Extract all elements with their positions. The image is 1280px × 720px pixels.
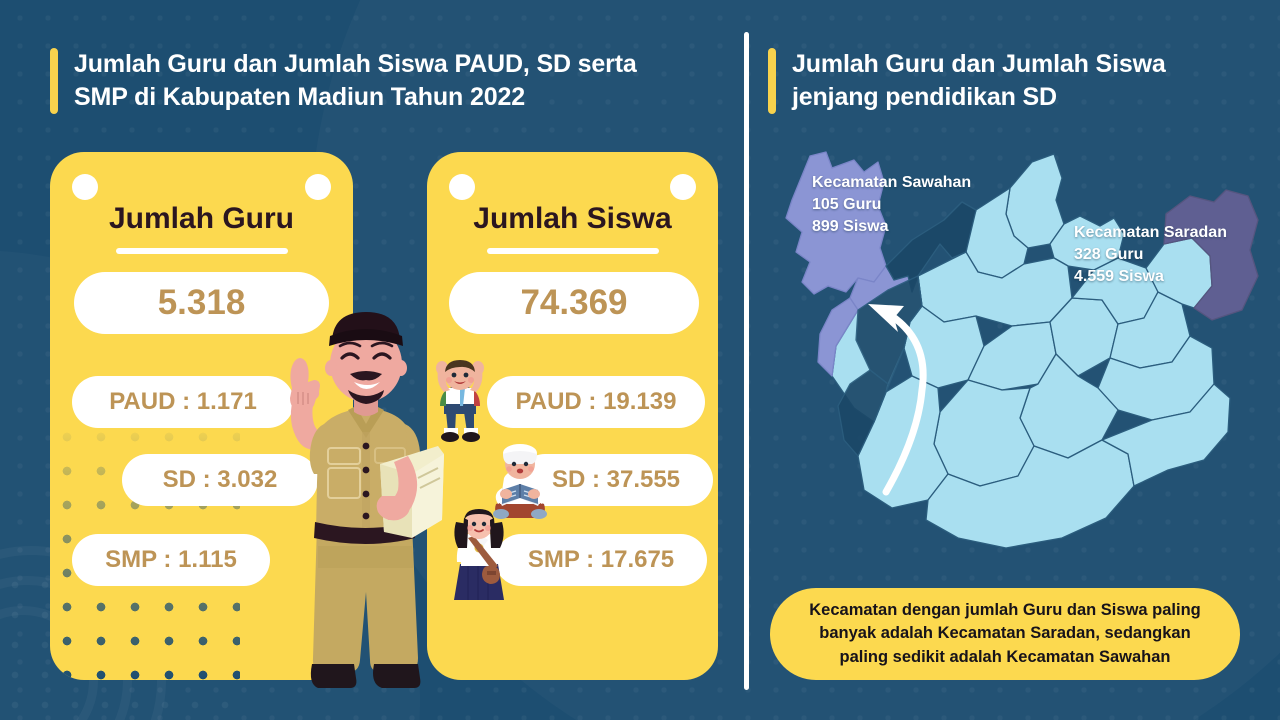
right-heading-text: Jumlah Guru dan Jumlah Siswa jenjang pen… <box>792 48 1166 114</box>
map-label-sawahan: Kecamatan Sawahan 105 Guru 899 Siswa <box>812 172 971 238</box>
card-siswa-title: Jumlah Siswa <box>427 202 718 236</box>
left-heading-text: Jumlah Guru dan Jumlah Siswa PAUD, SD se… <box>74 48 637 114</box>
card-siswa-dot-right <box>670 174 696 200</box>
card-guru-total-value: 5.318 <box>74 272 329 334</box>
card-siswa-total-value: 74.369 <box>449 272 699 334</box>
card-guru-smp-value: SMP : 1.115 <box>72 534 270 586</box>
card-siswa-rule <box>487 248 659 254</box>
map-region-kare <box>1006 154 1064 248</box>
card-guru-dot-right <box>305 174 331 200</box>
card-siswa-sd-value: SD : 37.555 <box>519 454 713 506</box>
right-heading: Jumlah Guru dan Jumlah Siswa jenjang pen… <box>768 48 1238 114</box>
map-label-saradan: Kecamatan Saradan 328 Guru 4.559 Siswa <box>1074 222 1227 288</box>
infographic-canvas: Jumlah Guru dan Jumlah Siswa PAUD, SD se… <box>0 0 1280 720</box>
card-guru-rule <box>116 248 288 254</box>
card-siswa-smp-value: SMP : 17.675 <box>495 534 707 586</box>
left-heading: Jumlah Guru dan Jumlah Siswa PAUD, SD se… <box>50 48 710 114</box>
card-siswa-paud-value: PAUD : 19.139 <box>487 376 705 428</box>
map-caption-box: Kecamatan dengan jumlah Guru dan Siswa p… <box>770 588 1240 680</box>
vertical-divider <box>744 32 749 690</box>
card-guru-dot-left <box>72 174 98 200</box>
card-jumlah-guru: Jumlah Guru 5.318 PAUD : 1.171 SD : 3.03… <box>50 152 353 680</box>
card-guru-sd-value: SD : 3.032 <box>122 454 318 506</box>
map-region-saradan-south <box>934 380 1034 486</box>
card-siswa-dot-left <box>449 174 475 200</box>
card-guru-paud-value: PAUD : 1.171 <box>72 376 294 428</box>
left-heading-accent-bar <box>50 48 58 114</box>
card-jumlah-siswa: Jumlah Siswa 74.369 PAUD : 19.139 SD : 3… <box>427 152 718 680</box>
right-heading-accent-bar <box>768 48 776 114</box>
card-guru-title: Jumlah Guru <box>50 202 353 236</box>
